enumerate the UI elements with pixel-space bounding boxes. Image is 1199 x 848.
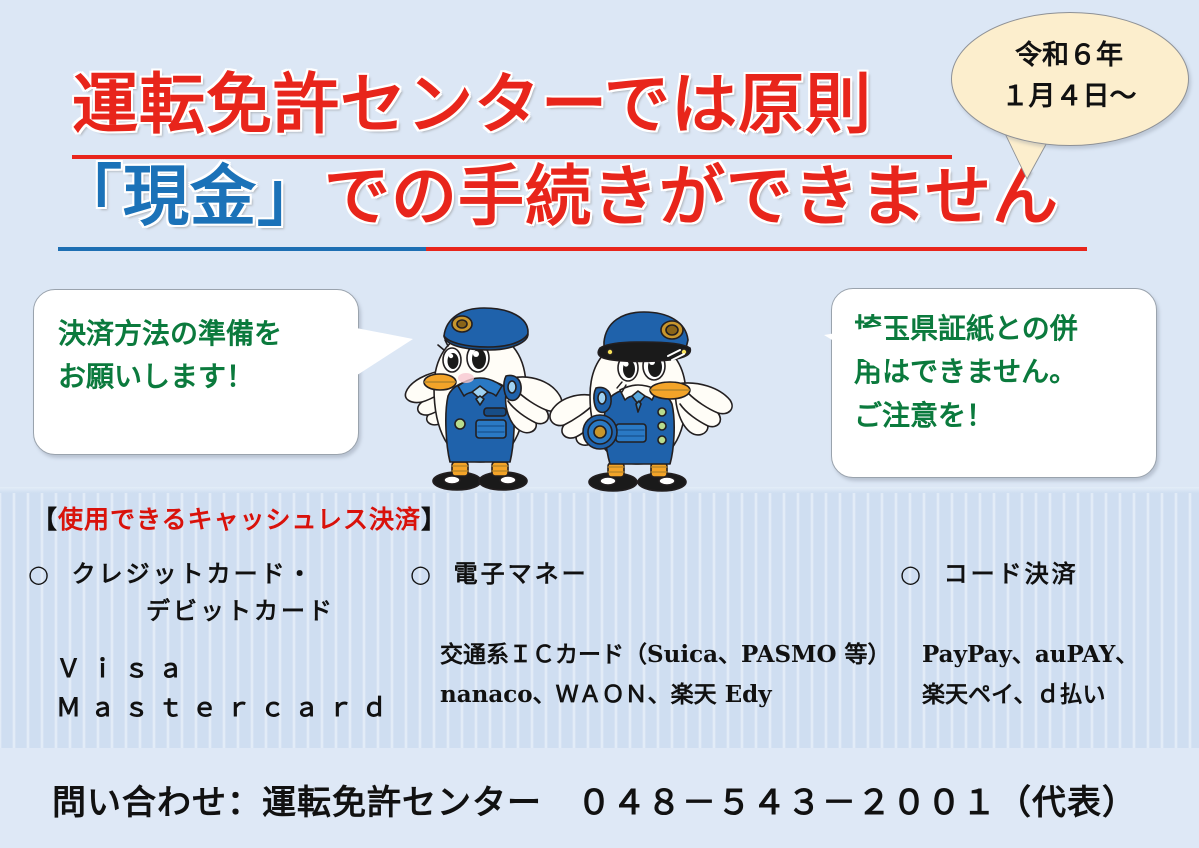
code-column-body: PayPay、auPAY、 楽天ペイ、ｄ払い (900, 635, 1138, 716)
title-close-bracket: 】 (421, 505, 447, 534)
police-bird-mascot-male (550, 312, 732, 491)
left-bubble-body: 決済方法の準備を お願いします！ (33, 289, 359, 455)
code-column-heading: ○ コード決済 (900, 556, 1138, 593)
left-speech-bubble: 決済方法の準備を お願いします！ (33, 289, 373, 457)
bullet-icon: ○ (410, 560, 431, 588)
emoney-heading-line-1: ○ 電子マネー (410, 556, 891, 593)
code-brands-line-1: PayPay、auPAY、 (922, 635, 1138, 675)
credit-column-heading: ○ クレジットカード・ デビットカード (28, 556, 396, 630)
bullet-icon: ○ (900, 560, 921, 588)
headline-line-2-text: での手続きができません (324, 158, 1059, 235)
right-bubble-line-3: ご注意を！ (854, 394, 1156, 437)
payment-column-code-payment: ○ コード決済 PayPay、auPAY、 楽天ペイ、ｄ払い (900, 556, 1138, 716)
credit-heading-line-1: ○ クレジットカード・ (28, 556, 396, 593)
right-bubble-text: 埼玉県証紙との併 用はできません。 ご注意を！ (854, 307, 1156, 437)
left-bubble-line-2: お願いします！ (58, 355, 358, 398)
cashless-section-title: 【使用できるキャッシュレス決済】 (32, 500, 447, 536)
emoney-transit-cards: 交通系ＩＣカード（Suica、PASMO 等） (440, 635, 891, 675)
emoney-brands: nanaco、ＷＡＯＮ、楽天 Edy (440, 675, 891, 715)
emoney-heading-text: 電子マネー (454, 560, 589, 588)
emoney-column-heading: ○ 電子マネー (410, 556, 891, 593)
title-open-bracket: 【 (32, 505, 58, 534)
date-bubble-line-2: １月４日〜 (951, 77, 1187, 118)
title-text: 使用できるキャッシュレス決済 (58, 505, 421, 534)
left-bubble-text: 決済方法の準備を お願いします！ (58, 312, 358, 399)
credit-heading-line-2: デビットカード (28, 593, 396, 630)
right-bubble-tail (824, 325, 886, 373)
credit-brand-visa: Ｖｉｓａ (56, 650, 396, 689)
payment-column-credit-card: ○ クレジットカード・ デビットカード Ｖｉｓａ Ｍａｓｔｅｒｃａｒｄ (28, 556, 396, 728)
credit-brand-mastercard: Ｍａｓｔｅｒｃａｒｄ (56, 689, 396, 728)
right-bubble-body: 埼玉県証紙との併 用はできません。 ご注意を！ (831, 288, 1157, 478)
date-bubble-line-1: 令和６年 (951, 36, 1187, 77)
code-heading-text: コード決済 (944, 560, 1079, 588)
credit-heading-text-1: クレジットカード・ (72, 560, 315, 588)
headline-underline-2-blue (58, 247, 426, 251)
credit-column-body: Ｖｉｓａ Ｍａｓｔｅｒｃａｒｄ (28, 650, 396, 728)
emoney-column-body: 交通系ＩＣカード（Suica、PASMO 等） nanaco、ＷＡＯＮ、楽天 E… (410, 635, 891, 716)
poster-root: 運転免許センターでは原則 「現金」での手続きができません 令和６年 １月４日〜 … (0, 0, 1199, 848)
headline-underline-2-red (426, 247, 1087, 251)
right-bubble-line-2: 用はできません。 (854, 350, 1156, 393)
date-bubble-text: 令和６年 １月４日〜 (951, 36, 1187, 117)
headline-underline-1 (72, 155, 952, 159)
bullet-icon: ○ (28, 560, 49, 588)
code-brands-line-2: 楽天ペイ、ｄ払い (922, 675, 1138, 715)
date-callout-bubble: 令和６年 １月４日〜 (951, 12, 1187, 172)
headline-cash-word: 「現金」 (56, 158, 324, 235)
contact-line: 問い合わせ：運転免許センター ０４８－５４３－２００１（代表） (52, 775, 1137, 824)
right-speech-bubble: 埼玉県証紙との併 用はできません。 ご注意を！ (785, 288, 1157, 480)
police-bird-mascots: .ol{stroke:#231f20;stroke-width:1.6;stro… (400, 300, 750, 495)
headline-line-1-text: 運転免許センターでは原則 (72, 66, 872, 143)
payment-column-electronic-money: ○ 電子マネー 交通系ＩＣカード（Suica、PASMO 等） nanaco、Ｗ… (410, 556, 891, 716)
right-bubble-line-1: 埼玉県証紙との併 (854, 307, 1156, 350)
left-bubble-line-1: 決済方法の準備を (58, 312, 358, 355)
code-heading-line-1: ○ コード決済 (900, 556, 1138, 593)
police-bird-mascot-female (405, 308, 561, 490)
